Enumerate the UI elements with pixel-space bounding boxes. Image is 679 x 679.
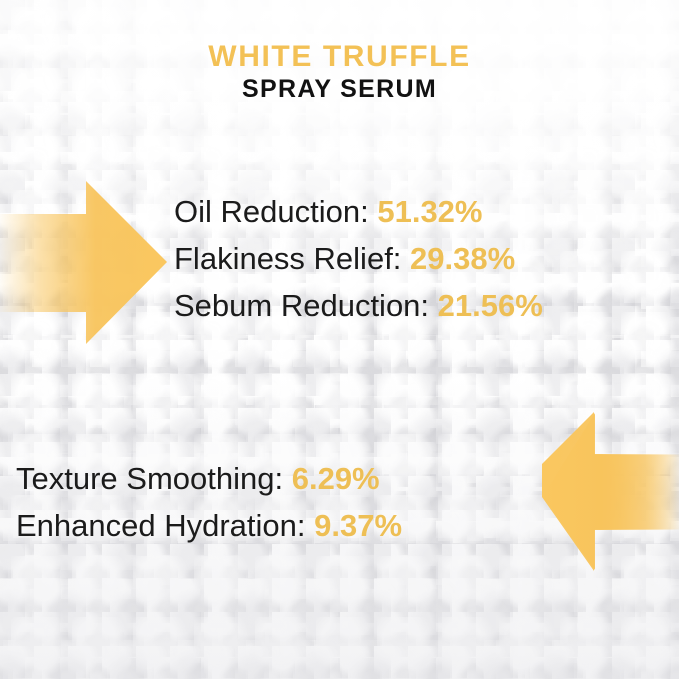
stat-label: Enhanced Hydration: xyxy=(16,508,306,543)
product-title-sub: SPRAY SERUM xyxy=(0,74,679,105)
top-stats-group: Oil Reduction: 51.32% Flakiness Relief: … xyxy=(174,188,679,329)
stat-value: 29.38% xyxy=(410,241,515,276)
arrow-right-icon xyxy=(0,176,172,350)
stat-value: 21.56% xyxy=(438,288,543,323)
arrow-left-icon xyxy=(536,406,679,578)
stat-line: Oil Reduction: 51.32% xyxy=(174,188,679,235)
stat-line: Flakiness Relief: 29.38% xyxy=(174,235,679,282)
title-block: WHITE TRUFFLE SPRAY SERUM xyxy=(0,40,679,105)
stat-value: 6.29% xyxy=(292,461,380,496)
stat-line: Texture Smoothing: 6.29% xyxy=(16,455,556,502)
stat-line: Enhanced Hydration: 9.37% xyxy=(16,502,556,549)
stat-value: 51.32% xyxy=(377,194,482,229)
stat-label: Oil Reduction: xyxy=(174,194,369,229)
bottom-stats-group: Texture Smoothing: 6.29% Enhanced Hydrat… xyxy=(16,455,556,549)
product-title-main: WHITE TRUFFLE xyxy=(0,40,679,74)
infographic-canvas: WHITE TRUFFLE SPRAY SERUM Oil Reduction:… xyxy=(0,0,679,679)
stat-label: Flakiness Relief: xyxy=(174,241,401,276)
stat-line: Sebum Reduction: 21.56% xyxy=(174,282,679,329)
stat-label: Sebum Reduction: xyxy=(174,288,429,323)
stat-value: 9.37% xyxy=(314,508,402,543)
stat-label: Texture Smoothing: xyxy=(16,461,283,496)
